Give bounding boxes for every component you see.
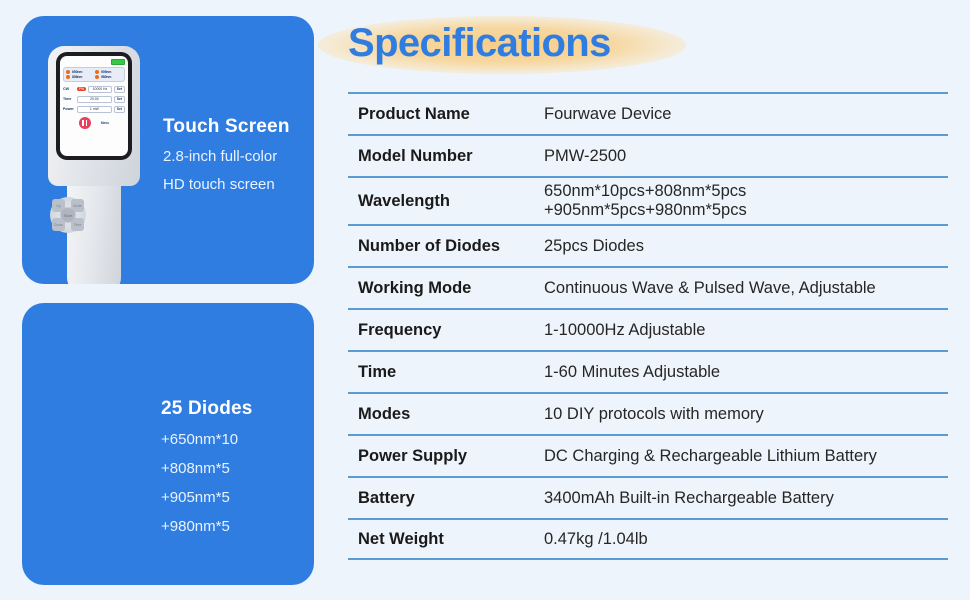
card-subtitle-line2: HD touch screen xyxy=(163,175,290,194)
card-subtitle-line1: +650nm*10 xyxy=(161,430,253,449)
frequency-field[interactable]: 10000 Hz xyxy=(88,86,112,93)
card-subtitle-line2: +808nm*5 xyxy=(161,459,253,478)
time-set-button[interactable]: Set xyxy=(114,96,125,103)
screen-bottom-bar: Menu xyxy=(63,117,125,129)
menu-button[interactable]: Menu xyxy=(101,121,109,125)
spec-label: Battery xyxy=(348,489,544,508)
page-title: Specifications xyxy=(348,21,611,66)
spec-label: Frequency xyxy=(348,321,544,340)
screen-row-power: Power 1 mW Set xyxy=(63,105,125,113)
spec-label: Number of Diodes xyxy=(348,237,544,256)
feature-cards-column: 650nm 905nm 808nm xyxy=(0,0,330,600)
frequency-set-button[interactable]: Set xyxy=(114,86,125,93)
spec-label: Modes xyxy=(348,405,544,424)
table-row: Time 1-60 Minutes Adjustable xyxy=(348,350,948,392)
spec-value: Continuous Wave & Pulsed Wave, Adjustabl… xyxy=(544,279,948,298)
led-dot-icon xyxy=(95,70,99,74)
feature-card-touch-screen: 650nm 905nm 808nm xyxy=(22,16,314,284)
spec-value: 1-60 Minutes Adjustable xyxy=(544,363,948,382)
spec-label: Net Weight xyxy=(348,530,544,549)
table-row: Net Weight 0.47kg /1.04lb xyxy=(348,518,948,560)
wavelength-option-650[interactable]: 650nm xyxy=(66,70,93,74)
screen-row-mode: CW PW 10000 Hz Set xyxy=(63,85,125,93)
led-dot-icon xyxy=(66,75,70,79)
spec-value: 0.47kg /1.04lb xyxy=(544,530,948,549)
power-set-button[interactable]: Set xyxy=(114,106,125,113)
table-row: Model Number PMW-2500 xyxy=(348,134,948,176)
spec-value: 650nm*10pcs+808nm*5pcs +905nm*5pcs+980nm… xyxy=(544,182,948,220)
screen-status-bar xyxy=(63,58,125,65)
spec-value: 1-10000Hz Adjustable xyxy=(544,321,948,340)
page-title-block: Specifications xyxy=(318,12,718,78)
led-dot-icon xyxy=(66,70,70,74)
screen-settings-rows: CW PW 10000 Hz Set Time 20:00 Set xyxy=(63,85,125,113)
power-label: Power xyxy=(63,107,75,111)
specifications-page: 650nm 905nm 808nm xyxy=(0,0,970,600)
directional-pad[interactable]: Up Mode Down Time Start xyxy=(50,197,86,233)
screen-row-time: Time 20:00 Set xyxy=(63,95,125,103)
spec-label: Time xyxy=(348,363,544,382)
time-field[interactable]: 20:00 xyxy=(77,96,112,103)
table-row: Modes 10 DIY protocols with memory xyxy=(348,392,948,434)
wavelength-option-905[interactable]: 905nm xyxy=(95,70,122,74)
spec-label: Power Supply xyxy=(348,447,544,466)
card-title: Touch Screen xyxy=(163,116,290,138)
table-row: Battery 3400mAh Built-in Rechargeable Ba… xyxy=(348,476,948,518)
feature-card-diodes: CAUTION ⚠ 25 Diodes +650nm*10 +808nm*5 +… xyxy=(22,303,314,585)
diodes-caption: 25 Diodes +650nm*10 +808nm*5 +905nm*5 +9… xyxy=(161,398,253,536)
spec-label: Product Name xyxy=(348,105,544,124)
wavelength-option-980[interactable]: 980nm xyxy=(95,75,122,79)
spec-value: 3400mAh Built-in Rechargeable Battery xyxy=(544,489,948,508)
time-label: Time xyxy=(63,97,75,101)
card-subtitle-line4: +980nm*5 xyxy=(161,517,253,536)
device-screen-bezel: 650nm 905nm 808nm xyxy=(56,52,132,160)
spec-value: PMW-2500 xyxy=(544,147,948,166)
battery-icon xyxy=(111,59,125,65)
table-row: Wavelength 650nm*10pcs+808nm*5pcs +905nm… xyxy=(348,176,948,224)
wavelength-selector[interactable]: 650nm 905nm 808nm xyxy=(63,67,125,82)
card-subtitle-line3: +905nm*5 xyxy=(161,488,253,507)
table-row: Frequency 1-10000Hz Adjustable xyxy=(348,308,948,350)
wavelength-label: 650nm xyxy=(72,70,82,74)
spec-label: Wavelength xyxy=(348,192,544,211)
spec-label: Working Mode xyxy=(348,279,544,298)
wavelength-label: 808nm xyxy=(72,75,82,79)
table-row: Working Mode Continuous Wave & Pulsed Wa… xyxy=(348,266,948,308)
mode-pill-pw[interactable]: PW xyxy=(77,87,86,91)
table-row: Number of Diodes 25pcs Diodes xyxy=(348,224,948,266)
wavelength-option-808[interactable]: 808nm xyxy=(66,75,93,79)
mode-label: CW xyxy=(63,87,75,91)
power-field[interactable]: 1 mW xyxy=(77,106,112,113)
card-subtitle-line1: 2.8-inch full-color xyxy=(163,147,290,166)
spec-value: DC Charging & Rechargeable Lithium Batte… xyxy=(544,447,948,466)
device-front-illustration: 650nm 905nm 808nm xyxy=(40,34,150,284)
specifications-table: Product Name Fourwave Device Model Numbe… xyxy=(348,92,948,560)
pause-button[interactable] xyxy=(79,117,91,129)
table-row: Product Name Fourwave Device xyxy=(348,92,948,134)
card-title: 25 Diodes xyxy=(161,398,253,420)
spec-value: Fourwave Device xyxy=(544,105,948,124)
spec-value: 10 DIY protocols with memory xyxy=(544,405,948,424)
led-dot-icon xyxy=(95,75,99,79)
spec-value: 25pcs Diodes xyxy=(544,237,948,256)
spec-label: Model Number xyxy=(348,147,544,166)
wavelength-label: 905nm xyxy=(101,70,111,74)
table-row: Power Supply DC Charging & Rechargeable … xyxy=(348,434,948,476)
touch-screen-caption: Touch Screen 2.8-inch full-color HD touc… xyxy=(163,116,290,194)
wavelength-label: 980nm xyxy=(101,75,111,79)
pad-start-button[interactable]: Start xyxy=(61,208,75,222)
device-touch-screen[interactable]: 650nm 905nm 808nm xyxy=(60,56,128,156)
